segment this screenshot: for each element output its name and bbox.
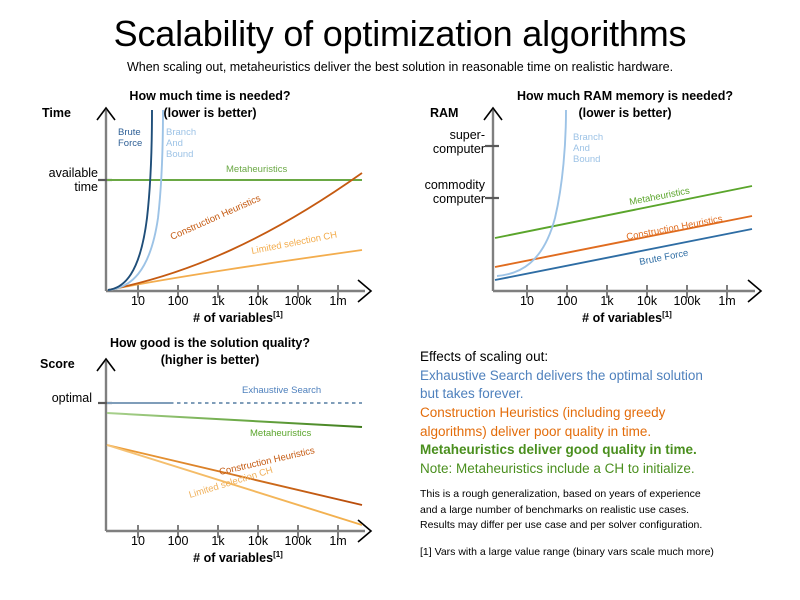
x-tick-label: 10	[520, 294, 534, 308]
x-tick-label: 100	[168, 534, 189, 548]
effects-orange-line-2: algorithms) deliver poor quality in time…	[420, 423, 795, 442]
x-tick-label: 100	[557, 294, 578, 308]
disclaimer-line-2: and a large number of benchmarks on real…	[420, 503, 795, 518]
x-tick-label: 100k	[284, 534, 311, 548]
x-tick-label: 10	[131, 534, 145, 548]
effects-heading: Effects of scaling out:	[420, 348, 795, 367]
x-tick-label: 10k	[637, 294, 657, 308]
series-label-construction-heuristics: Construction Heuristics	[169, 193, 263, 243]
x-tick-label: 1k	[211, 294, 224, 308]
infographic-page: Scalability of optimization algorithms W…	[0, 0, 800, 600]
spacer	[420, 533, 795, 545]
effects-text-panel: Effects of scaling out: Exhaustive Searc…	[420, 348, 795, 588]
footnote: [1] Vars with a large value range (binar…	[420, 545, 795, 560]
disclaimer-line-1: This is a rough generalization, based on…	[420, 487, 795, 502]
spacer	[420, 478, 795, 487]
x-tick-label: 10	[131, 294, 145, 308]
series-label-metaheuristics: Metaheuristics	[226, 164, 287, 175]
chart-time: How much time is needed? (lower is bette…	[20, 88, 410, 328]
page-title: Scalability of optimization algorithms	[0, 14, 800, 54]
chart-time-plot: BruteForce BranchAndBound Metaheuristics…	[20, 88, 410, 328]
chart-score: How good is the solution quality? (highe…	[20, 335, 410, 585]
series-label-metaheuristics: Metaheuristics	[250, 428, 311, 439]
series-line-brute-force	[495, 229, 752, 280]
series-line-metaheuristics	[107, 413, 362, 427]
series-label-exhaustive-search: Exhaustive Search	[242, 385, 321, 396]
disclaimer-line-3: Results may differ per use case and per …	[420, 518, 795, 533]
effects-orange-line-1: Construction Heuristics (including greed…	[420, 404, 795, 423]
series-label-brute-force: BruteForce	[118, 127, 142, 149]
series-line-limited-selection-ch	[108, 250, 362, 290]
series-line-construction-heuristics	[107, 445, 362, 505]
chart-time-x-axis-label: # of variables[1]	[148, 310, 328, 325]
effects-green-bold-line: Metaheuristics deliver good quality in t…	[420, 441, 795, 460]
page-subtitle: When scaling out, metaheuristics deliver…	[0, 60, 800, 74]
series-label-branch-and-bound: BranchAndBound	[166, 127, 196, 160]
effects-green-note: Note: Metaheuristics include a CH to ini…	[420, 460, 795, 479]
x-tick-label: 10k	[248, 534, 268, 548]
chart-score-x-axis-label: # of variables[1]	[148, 550, 328, 565]
x-tick-label: 1m	[329, 294, 346, 308]
effects-blue-line-2: but takes forever.	[420, 385, 795, 404]
chart-ram-plot: BranchAndBound Metaheuristics Constructi…	[415, 88, 800, 328]
x-tick-label: 1m	[718, 294, 735, 308]
series-label-construction-heuristics: Construction Heuristics	[625, 213, 723, 242]
x-tick-label: 10k	[248, 294, 268, 308]
chart-ram: How much RAM memory is needed? (lower is…	[415, 88, 800, 328]
effects-blue-line-1: Exhaustive Search delivers the optimal s…	[420, 367, 795, 386]
x-tick-label: 1k	[600, 294, 613, 308]
series-line-branch-and-bound	[497, 110, 566, 276]
series-line-metaheuristics	[495, 186, 752, 238]
series-label-branch-and-bound: BranchAndBound	[573, 132, 603, 165]
x-tick-label: 100k	[284, 294, 311, 308]
x-tick-label: 100	[168, 294, 189, 308]
x-tick-label: 1m	[329, 534, 346, 548]
chart-ram-x-axis-label: # of variables[1]	[537, 310, 717, 325]
x-tick-label: 1k	[211, 534, 224, 548]
x-tick-label: 100k	[673, 294, 700, 308]
